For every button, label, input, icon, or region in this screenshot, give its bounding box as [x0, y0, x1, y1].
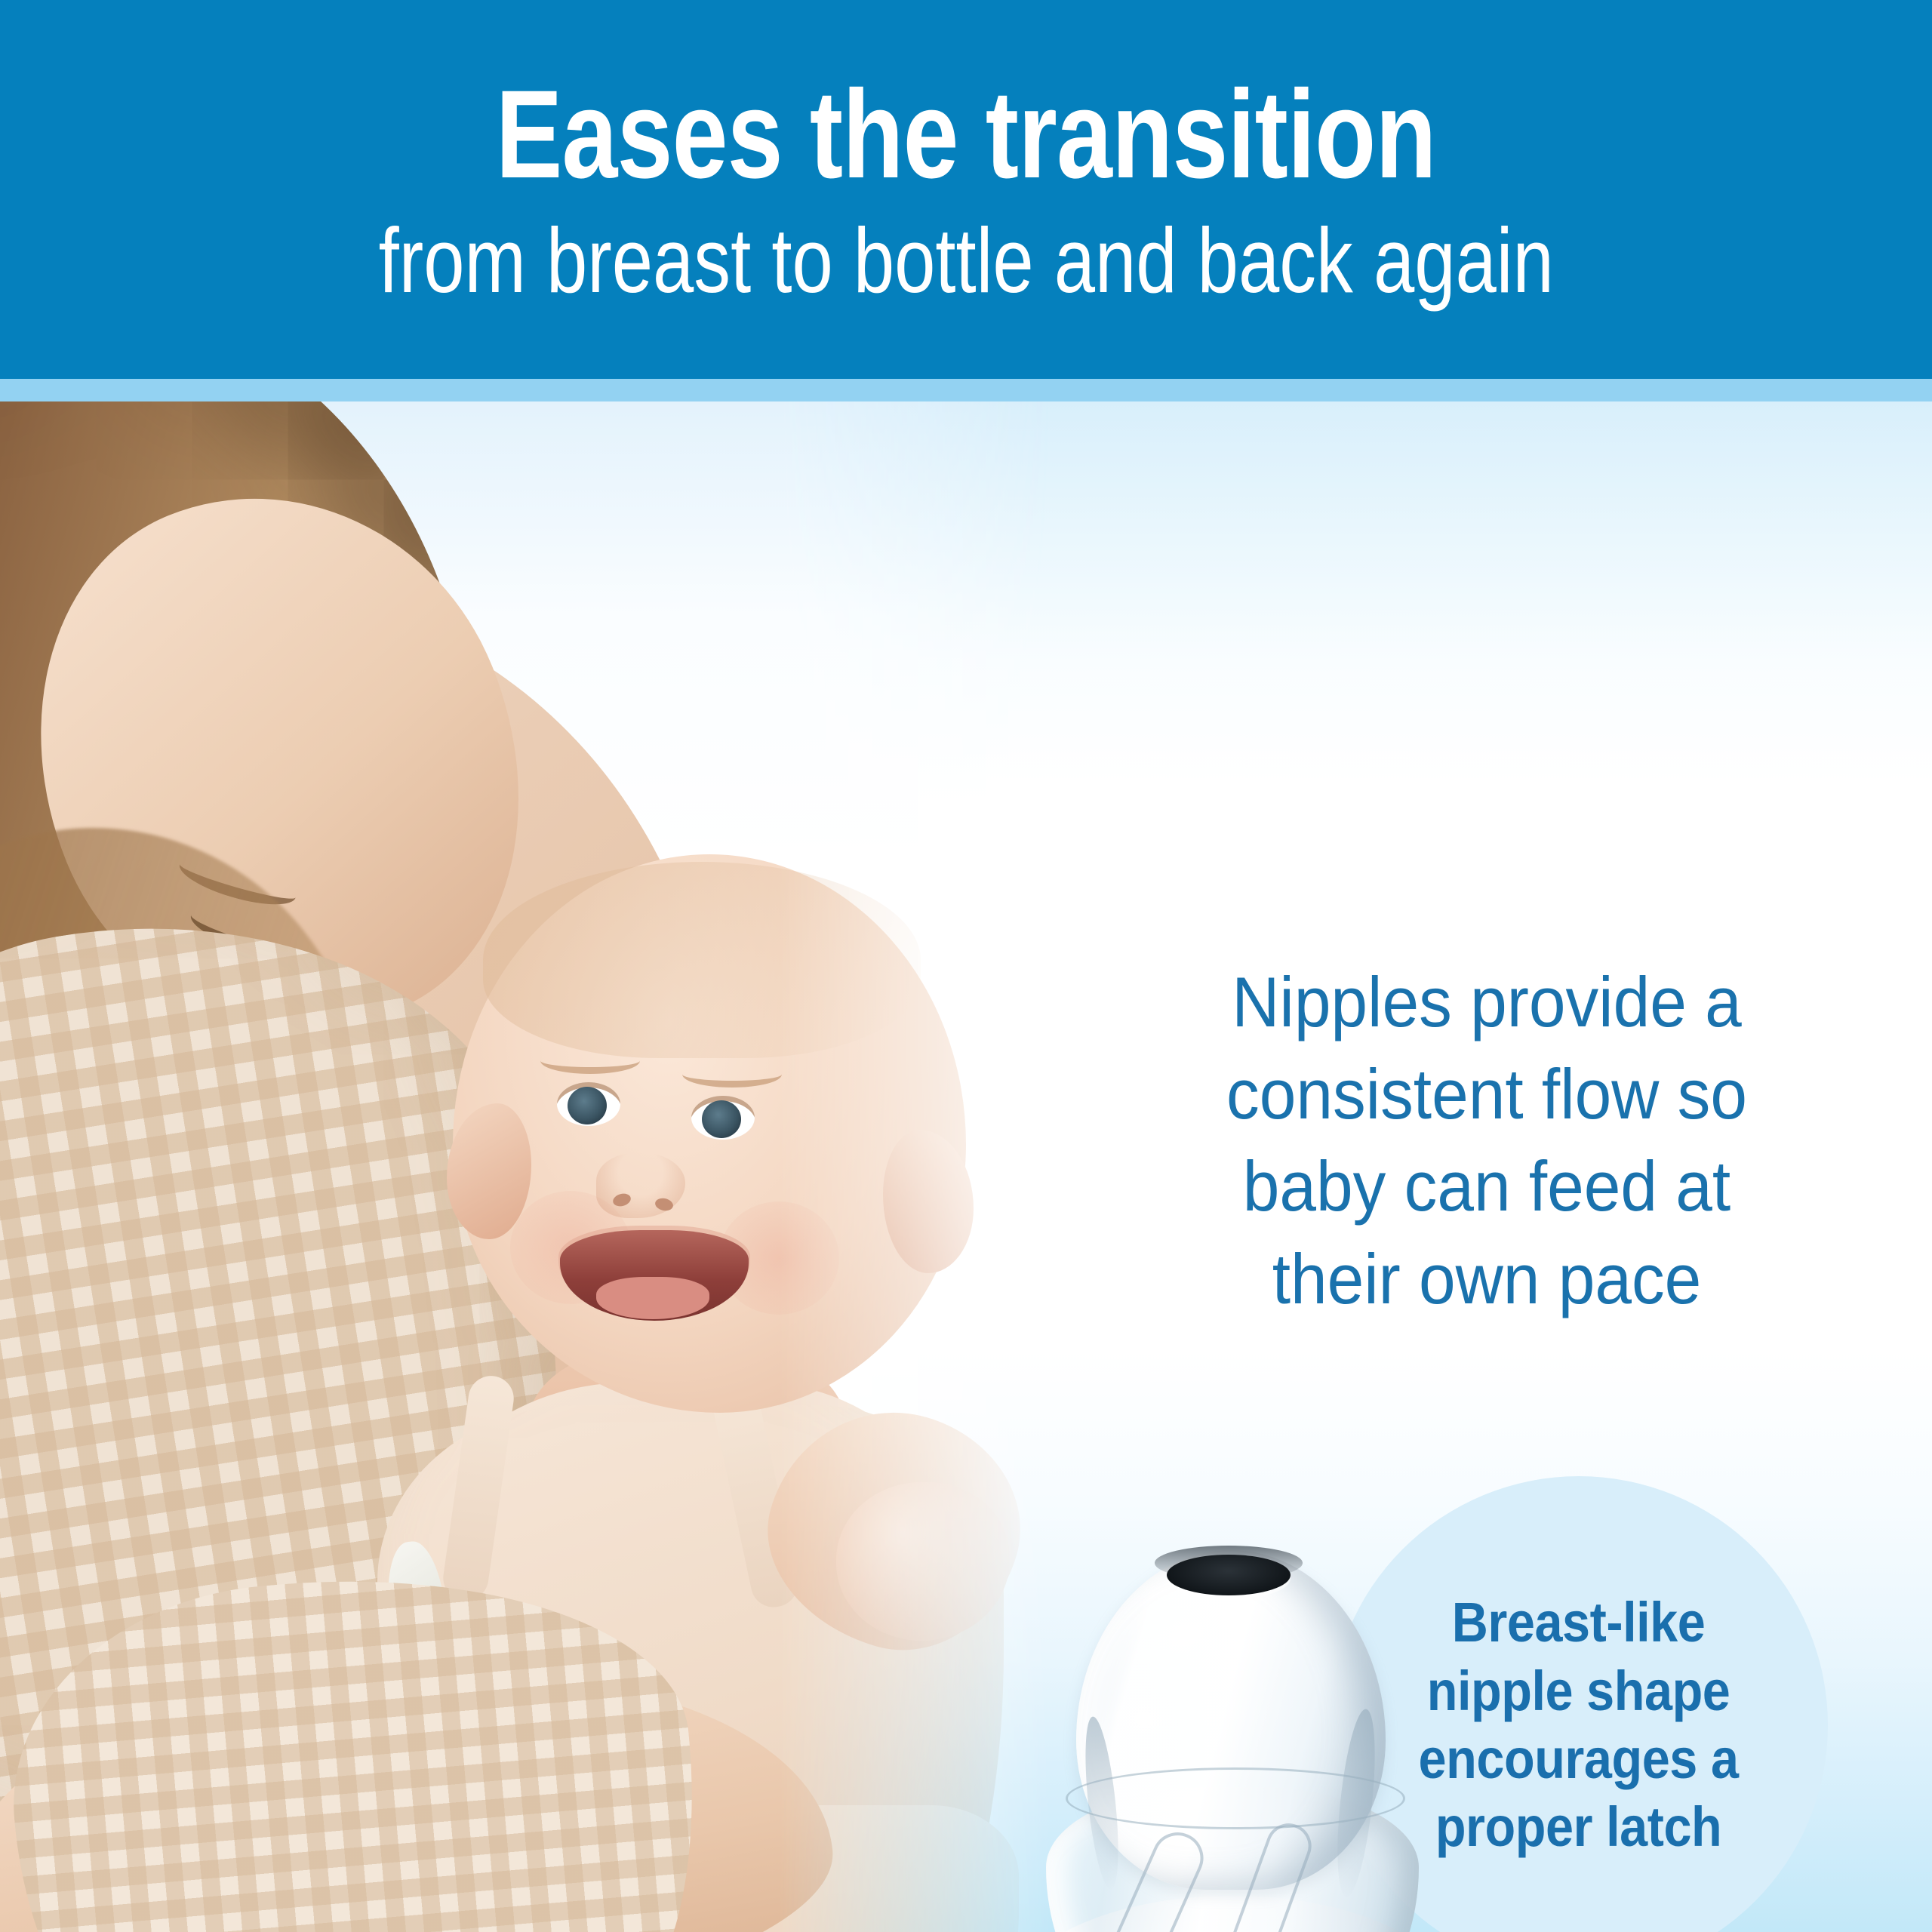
baby-eye-left	[557, 1082, 620, 1126]
header-banner: Eases the transition from breast to bott…	[0, 0, 1932, 379]
headline: Eases the transition	[496, 72, 1436, 198]
baby-tongue	[596, 1277, 709, 1319]
subheadline: from breast to bottle and back again	[378, 214, 1553, 306]
nipple-hole	[1167, 1555, 1291, 1595]
product-nipple	[891, 1518, 1570, 1932]
baby-hair	[483, 862, 921, 1058]
baby-eyebrow-left	[540, 1048, 640, 1074]
baby-eye-right	[691, 1096, 755, 1140]
nipple-highlight-secondary	[1115, 1697, 1173, 1742]
baby-iris-right	[702, 1100, 741, 1138]
body-copy: Nipples provide a consistent flow so bab…	[1101, 956, 1873, 1325]
body-copy-line-4: their own pace	[1101, 1233, 1873, 1325]
product-marketing-image: Eases the transition from breast to bott…	[0, 0, 1932, 1932]
body-copy-line-3: baby can feed at	[1101, 1140, 1873, 1232]
baby-eyebrow-right	[682, 1061, 782, 1088]
header-accent-strip	[0, 379, 1932, 401]
body-copy-line-1: Nipples provide a	[1101, 956, 1873, 1048]
main-stage: Dr. Brown's Nipples provide a consistent…	[0, 401, 1932, 1932]
body-copy-line-2: consistent flow so	[1101, 1048, 1873, 1140]
baby-iris-left	[568, 1087, 607, 1124]
